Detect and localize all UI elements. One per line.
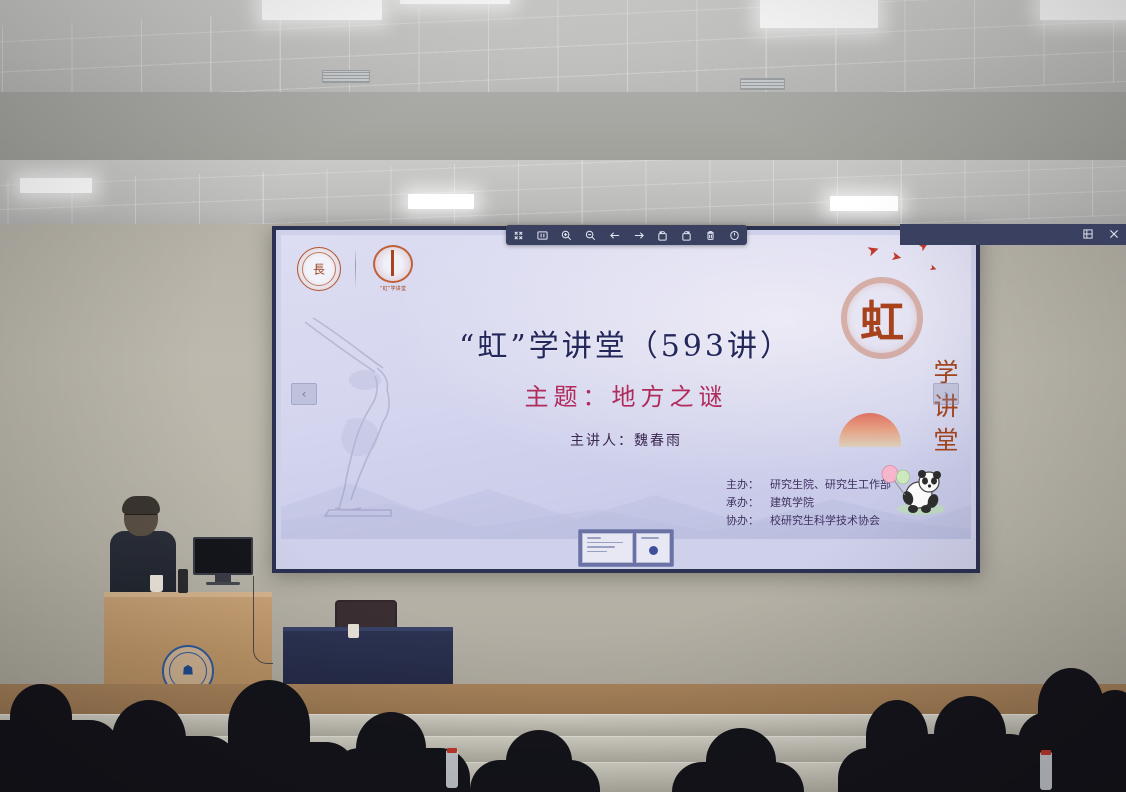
window-view-icon[interactable] <box>535 228 550 243</box>
pip-text-line <box>587 537 601 539</box>
rotate-right-icon[interactable] <box>679 228 694 243</box>
ceiling-far-section <box>0 0 1126 96</box>
power-icon[interactable] <box>727 228 742 243</box>
monitor-stand <box>215 575 231 582</box>
paper-cup <box>150 575 163 592</box>
slide-logo-row: 長 “虹”学讲堂 <box>297 245 416 293</box>
presenter-glasses <box>125 514 157 520</box>
audience-member <box>934 696 1006 772</box>
pip-seal-icon <box>649 546 658 555</box>
audience-member <box>10 684 72 750</box>
flying-bird-icon: ➤ <box>890 250 903 265</box>
logo-divider <box>355 249 356 289</box>
monitor-cable <box>253 576 273 664</box>
next-arrow-icon[interactable] <box>631 228 646 243</box>
vertical-calligraphy-text: 学讲堂 <box>932 359 957 461</box>
hong-logo-caption: “虹”学讲堂 <box>370 286 416 292</box>
projection-screen-frame: 長 “虹”学讲堂 “虹”学讲堂（593讲） 主题：地方之谜 主讲人：魏春雨 主办… <box>272 226 980 573</box>
delete-icon[interactable] <box>703 228 718 243</box>
organizer-label: 主办： <box>726 476 760 494</box>
organizer-value: 建筑学院 <box>770 494 814 512</box>
audience-member <box>112 700 186 778</box>
ceiling-air-vent <box>322 70 370 83</box>
pip-text-line <box>587 546 615 548</box>
previous-arrow-icon[interactable] <box>607 228 622 243</box>
image-viewer-toolbar[interactable] <box>506 225 747 245</box>
flying-bird-icon: ➤ <box>865 241 882 259</box>
table-cup <box>348 624 359 638</box>
pip-text-line <box>587 551 607 553</box>
upper-wall-panel <box>0 92 1126 166</box>
monitor-screen <box>193 537 253 575</box>
fit-screen-icon[interactable] <box>511 228 526 243</box>
ceiling-light-panel <box>262 0 382 20</box>
pip-document-pane[interactable] <box>582 533 633 563</box>
window-controls[interactable] <box>1081 227 1120 240</box>
ceiling-light-panel <box>408 194 474 209</box>
podium-emblem-mark: ☗ <box>182 664 194 679</box>
maximize-icon[interactable] <box>1081 227 1094 240</box>
hong-lecture-logo: “虹”学讲堂 <box>370 245 416 293</box>
ceiling-light-panel <box>830 196 898 211</box>
ceiling-air-vent <box>740 78 785 90</box>
ceiling-light-panel <box>400 0 510 4</box>
rotate-left-icon[interactable] <box>655 228 670 243</box>
panda-mascot-illustration <box>881 465 955 515</box>
ceiling-light-panel <box>1040 0 1126 20</box>
thermos-bottle <box>178 569 188 593</box>
projection-screen: 長 “虹”学讲堂 “虹”学讲堂（593讲） 主题：地方之谜 主讲人：魏春雨 主办… <box>276 230 976 569</box>
pip-text-line <box>587 542 623 544</box>
lecture-hall-room: 長 “虹”学讲堂 “虹”学讲堂（593讲） 主题：地方之谜 主讲人：魏春雨 主办… <box>0 0 1126 792</box>
close-icon[interactable] <box>1107 227 1120 240</box>
ceiling-near-section <box>0 160 1126 230</box>
hong-character: 虹 <box>841 277 923 359</box>
sunset-graphic <box>839 413 901 447</box>
presenter-person <box>108 498 180 598</box>
ceiling-light-panel <box>20 178 92 193</box>
audience-member <box>706 728 776 792</box>
water-bottle <box>1040 752 1052 790</box>
water-bottle-cap <box>1041 750 1051 755</box>
presenter-torso <box>110 531 176 599</box>
slide-next-button[interactable]: › <box>933 383 959 405</box>
slide-prev-button[interactable]: ‹ <box>291 383 317 405</box>
pip-thumbnail-pane[interactable] <box>636 533 670 563</box>
zoom-in-icon[interactable] <box>559 228 574 243</box>
ceiling-tile-grid-near <box>0 160 1126 230</box>
monitor-base <box>206 582 240 585</box>
audience-member <box>506 730 572 792</box>
water-bottle-cap <box>447 748 457 753</box>
flying-bird-icon: ➤ <box>928 264 938 275</box>
organizer-label: 协办： <box>726 512 760 530</box>
calligraphy-block: ➤ ➤ ➤ ➤ 虹 学讲堂 <box>833 241 963 521</box>
zoom-out-icon[interactable] <box>583 228 598 243</box>
podium-monitor <box>193 537 253 582</box>
presentation-slide: 長 “虹”学讲堂 “虹”学讲堂（593讲） 主题：地方之谜 主讲人：魏春雨 主办… <box>281 235 971 539</box>
ceiling-light-panel <box>760 0 878 28</box>
audience-member <box>356 712 426 784</box>
hong-logo-bar <box>391 250 394 276</box>
presenter-hair <box>122 496 160 514</box>
pip-text-line <box>641 537 659 539</box>
picture-in-picture-overlay[interactable] <box>578 529 674 567</box>
organizer-label: 承办： <box>726 494 760 512</box>
water-bottle <box>446 750 458 788</box>
university-seal-logo: 長 <box>297 247 341 291</box>
ceiling-tile-grid <box>0 0 1126 96</box>
audience-member <box>228 680 310 772</box>
university-seal-mark: 長 <box>313 261 325 278</box>
